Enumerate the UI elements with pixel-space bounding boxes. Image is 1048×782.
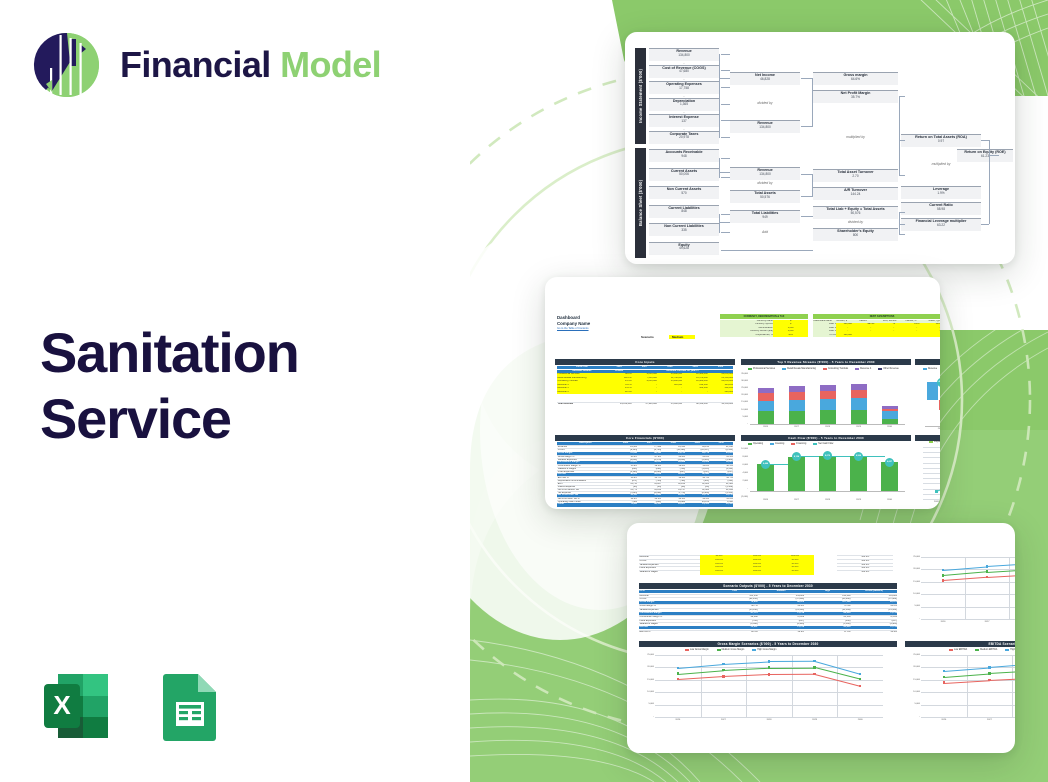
- node-value: 61.23: [957, 155, 1013, 158]
- conn-income-5: [721, 137, 730, 138]
- legend-item: Net Cash Flow: [813, 443, 833, 445]
- x-tick: 2026: [936, 428, 940, 430]
- legend-swatch: [717, 649, 721, 651]
- node-value: 0.97: [901, 140, 981, 143]
- legend-label: Medium Gross Margin: [722, 649, 745, 651]
- total-value: 68,132,000: [682, 402, 707, 406]
- conn-col2-spine2: [812, 174, 813, 196]
- conn-equity: [721, 250, 813, 251]
- conn-col4-2: [981, 224, 989, 225]
- stacked-bar-segment: [758, 401, 774, 412]
- y-tick: 25,000: [642, 654, 654, 656]
- conn-col2-5: [801, 216, 813, 217]
- ebitda-x-tick: 2027: [984, 719, 994, 721]
- legend-label: Professional Services: [753, 368, 775, 370]
- panel-header-ebitda-scenarios: EBITDA Scenarios ($'000) - 5 Years to De…: [905, 641, 1015, 647]
- node-value: 1.9%: [901, 192, 981, 195]
- y-tick: 2,000: [738, 480, 748, 482]
- panel-header-gross-margin-scenarios: Gross Margin Scenarios ($'000) - 5 Years…: [639, 641, 897, 647]
- legend-swatch: [975, 649, 979, 651]
- stacked-bar-segment: [882, 411, 898, 419]
- active-value: 100.0%: [837, 570, 893, 574]
- legend-swatch: [752, 649, 756, 651]
- gross-margin-x-tick: 2026: [673, 719, 683, 721]
- gross-margin-data-point: [768, 666, 770, 668]
- panel-header-profitability: Profitability ($'000) - 5 Years to Decem…: [915, 359, 940, 365]
- ebitda-data-point: [943, 676, 945, 678]
- node-value: 49,628: [649, 247, 719, 250]
- col3-shareholders-equity: Shareholder's Equity800: [813, 228, 898, 241]
- cell: 100,000: [836, 334, 859, 337]
- col2-net-income: Net Income46,828: [730, 72, 800, 85]
- scenario-overview-data-point: [986, 570, 988, 572]
- add-op: Add: [730, 230, 800, 234]
- gross-margin-line-segment: [769, 667, 815, 668]
- legend-item: Payback year: [929, 441, 940, 443]
- cell: 320,000: [708, 391, 733, 394]
- cell: 52.9%: [758, 630, 804, 634]
- conn-col4-1: [981, 140, 989, 141]
- dashboard-title: DashboardCompany Name: [557, 315, 637, 326]
- top-block-header-1: DEBT ASSUMPTIONS: [813, 314, 940, 319]
- conn-col4-out: [989, 155, 999, 156]
- y-tick: 10,000: [908, 691, 920, 693]
- legend-label: Revenue 4: [860, 368, 871, 370]
- conn-col3-1: [899, 96, 905, 97]
- brand-name: Financial Model: [120, 44, 381, 86]
- legend-label: Operating: [753, 443, 763, 445]
- legend-swatch: [1005, 649, 1009, 651]
- conn-col3-3: [899, 212, 905, 213]
- legend-swatch: [949, 649, 953, 651]
- total-value: 24,100,000: [606, 402, 631, 406]
- panel-header-scenario-outputs: Scenario Outputs ($'000) - 5 Years to De…: [639, 583, 897, 589]
- col4-leverage: Leverage1.9%: [901, 186, 981, 199]
- stacked-bar-segment: [882, 406, 898, 409]
- top-block-row: TOTAL100,000: [813, 334, 940, 337]
- legend-swatch: [791, 443, 795, 445]
- legend-item: Medium Gross Margin: [717, 649, 745, 651]
- cell: -: [632, 391, 657, 394]
- y-tick: -: [642, 716, 654, 718]
- y-tick: 15,000: [738, 401, 748, 403]
- legend-label: Consulting Tutorials: [828, 368, 848, 370]
- gross-margin-x-tick: 2028: [764, 719, 774, 721]
- gross-margin-data-point: [677, 678, 679, 680]
- col4-roa: Return on Total Assets (ROA)0.97: [901, 134, 981, 147]
- total-value: 37,940,000: [632, 402, 657, 406]
- legend-label: High EBITDA: [1010, 649, 1015, 651]
- x-tick: 2029: [855, 426, 863, 428]
- brand-logo: Financial Model: [30, 28, 381, 102]
- y-tick: 15,000: [908, 679, 920, 681]
- net-cashflow-bubble: 6,637: [885, 458, 894, 467]
- legend-label: Medium EBITDA: [980, 649, 997, 651]
- legend-label: Financing: [796, 443, 806, 445]
- y-tick: 20,000: [738, 394, 748, 396]
- scenario-active-col: 100.0%: [837, 570, 893, 574]
- node-value: 50,006: [649, 173, 719, 176]
- total-value: 91,538,000: [708, 402, 733, 406]
- top-block-row: Corporate tax, %30%: [720, 334, 808, 337]
- cell: 8,444: [613, 503, 637, 506]
- income-item-4: Interest Expense137: [649, 114, 719, 127]
- y-tick: 20,000: [908, 666, 920, 668]
- stacked-bar-segment: [789, 411, 805, 424]
- x-tick: 2026: [762, 426, 770, 428]
- conn-col3-out2: [899, 224, 905, 225]
- gross-margin-data-point: [859, 685, 861, 687]
- y-tick: 5,000: [908, 605, 920, 607]
- col3-total-liab-equity: Total Liab + Equity = Total Assets50,576: [813, 206, 898, 219]
- ebitda-line-segment: [989, 671, 1015, 674]
- net-cashflow-line: [863, 456, 885, 457]
- gross-margin-data-point: [677, 667, 679, 669]
- microsoft-excel-icon[interactable]: X: [36, 666, 116, 746]
- cell: 22.4%: [606, 391, 631, 394]
- scenario-overview-x-tick: 2027: [982, 621, 992, 623]
- gross-margin-data-point: [677, 672, 679, 674]
- payback-data-point: [935, 490, 938, 493]
- net-cashflow-bubble: 8,568: [854, 452, 863, 461]
- total-value: 55,300,000: [657, 402, 682, 406]
- ebitda-x-tick: 2026: [939, 719, 949, 721]
- cashflow-legend: OperatingInvestingFinancingNet Cash Flow: [748, 443, 836, 445]
- core-inputs-row: Revenue 622.4%---320,000: [557, 391, 733, 394]
- legend-swatch: [878, 368, 882, 370]
- panel-header-top-5-revenue-streams: Top 5 Revenue Streams ($'000) - 5 Years …: [741, 359, 911, 365]
- cell: 52.9%: [851, 630, 897, 634]
- legend-label: Other Revenue: [883, 368, 899, 370]
- core-financials-row: Close8,44449,13440,90144,50046,590: [557, 503, 733, 506]
- income-statement-band: Income Statement ($'000): [635, 48, 646, 144]
- y-tick: -: [908, 618, 920, 620]
- y-tick: 4,000: [738, 472, 748, 474]
- stacked-bar-segment: [851, 390, 867, 398]
- node-value: 50,576: [730, 196, 800, 199]
- stacked-bar-segment: [851, 384, 867, 390]
- cell: TOTAL: [813, 334, 836, 337]
- income-item-5: Corporate Taxes20,978: [649, 131, 719, 144]
- node-value: 17,758: [649, 87, 719, 90]
- legend-swatch: [748, 368, 752, 370]
- google-sheets-icon[interactable]: [148, 666, 228, 746]
- legend-swatch: [813, 443, 817, 445]
- gross-margin-data-point: [859, 678, 861, 680]
- y-tick: 20,000: [642, 666, 654, 668]
- y-tick: 30,000: [738, 380, 748, 382]
- y-tick: -: [908, 716, 920, 718]
- conn-bs-1: [721, 158, 730, 159]
- scenario-overview-data-point: [986, 565, 988, 567]
- brand-name-part1: Financial: [120, 44, 271, 85]
- conn-bs-out2: [719, 222, 730, 223]
- gross-margin-data-point: [813, 660, 815, 662]
- y-tick: 5,000: [642, 703, 654, 705]
- y-tick: 25,000: [908, 556, 920, 558]
- node-value: 800: [813, 234, 898, 237]
- cell: [905, 334, 928, 337]
- legend-label: Payback year: [934, 441, 940, 443]
- y-tick: 10,000: [642, 691, 654, 693]
- cell: 49,134: [637, 503, 661, 506]
- conn-bs-spine2: [719, 214, 720, 233]
- cell: 57.0%: [804, 630, 850, 634]
- legend-swatch: [923, 368, 927, 370]
- col2-revenue-2: Revenue134,800: [730, 167, 800, 180]
- stacked-bar-segment: [851, 410, 867, 424]
- legend-label: Low EBITDA: [954, 649, 967, 651]
- stacked-bar-segment: [851, 398, 867, 410]
- conn-col4-spine: [989, 140, 990, 224]
- node-value: 2.70: [813, 175, 898, 178]
- dupont-analysis-screenshot[interactable]: Income Statement ($'000)Balance Sheet ($…: [625, 32, 1015, 264]
- conn-col2-4: [801, 196, 813, 197]
- cell: Close: [557, 503, 613, 506]
- ebitda-data-point: [988, 672, 990, 674]
- y-tick: -: [738, 488, 748, 490]
- dashboard-title-line2: Company Name: [557, 321, 637, 327]
- svg-text:X: X: [53, 690, 71, 720]
- legend-label: Revenue: [928, 368, 937, 370]
- gross-margin-data-point: [813, 666, 815, 668]
- dashboard-screenshot[interactable]: DashboardCompany NameGo to the Table of …: [545, 277, 940, 509]
- panel-header-core-inputs: Core Inputs: [555, 359, 735, 365]
- scenario-overview-data-point: [942, 574, 944, 576]
- stacked-bar-segment: [820, 399, 836, 411]
- net-cashflow-bubble: 8,134: [792, 452, 801, 461]
- conn-col2-spine: [812, 78, 813, 126]
- input-value: 100.0%: [738, 570, 776, 574]
- compatible-apps: X: [36, 666, 228, 746]
- node-value: 948: [649, 155, 719, 158]
- scenario-overview-data-point: [986, 576, 988, 578]
- balance-item-4: Non Current Liabilities335: [649, 223, 719, 236]
- legend-item: High Gross Margin: [752, 649, 776, 651]
- y-tick: 10,000: [738, 448, 748, 450]
- conn-bs-spine: [719, 158, 720, 178]
- scenario-overview-line-segment: [987, 564, 1015, 567]
- x-tick: 2027: [793, 426, 801, 428]
- conn-bs-4: [721, 232, 730, 233]
- cell: -: [657, 391, 682, 394]
- gross-margin-data-point: [722, 669, 724, 671]
- x-tick: 2030: [886, 499, 894, 501]
- cell: [882, 334, 905, 337]
- x-tick: 2028: [824, 499, 832, 501]
- node-value: 134,800: [730, 126, 800, 129]
- y-tick: 25,000: [738, 387, 748, 389]
- ebitda-data-point: [988, 679, 990, 681]
- balance-item-1: Current Assets50,006: [649, 168, 719, 181]
- conn-col3-2: [899, 175, 905, 176]
- node-value: 137: [649, 120, 719, 123]
- cell: 30%: [773, 334, 808, 337]
- cashflow-operating-bar: [819, 456, 836, 491]
- y-tick: 6,000: [738, 464, 748, 466]
- col2-total-liabilities: Total Liabilities949: [730, 210, 800, 223]
- scenario-overview-line-segment: [987, 575, 1015, 578]
- col4-financial-leverage: Financial Leverage multiplier63.22: [901, 218, 981, 231]
- legend-label: Retail Resale Manufacturing: [787, 368, 816, 370]
- cell: 46,590: [709, 503, 733, 506]
- conn-income-spine: [719, 54, 720, 138]
- legend-item: Revenue 4: [855, 368, 871, 370]
- legend-swatch: [782, 368, 786, 370]
- gross-margin-data-point: [859, 673, 861, 675]
- core-inputs-total-row: Total Revenue24,100,00037,940,00055,300,…: [557, 402, 733, 406]
- legend-item: High EBITDA: [1005, 649, 1015, 651]
- conn-bs-out: [719, 172, 730, 173]
- legend-label: Investing: [775, 443, 784, 445]
- income-item-0: Revenue134,800: [649, 48, 719, 61]
- legend-item: Low EBITDA: [949, 649, 967, 651]
- cashflow-operating-bar: [788, 457, 805, 491]
- conn-bs-3: [721, 214, 730, 215]
- col4-current-ratio: Current Ratio58.98: [901, 202, 981, 215]
- income-item-3: Depreciation1,365: [649, 98, 719, 111]
- y-tick: 5,000: [738, 416, 748, 418]
- input-label: Salaries & Wages: [639, 570, 700, 574]
- balance-item-5: Equity49,628: [649, 242, 719, 255]
- profitability-revenue-bar: [927, 382, 938, 400]
- cell: 40.1%: [711, 630, 757, 634]
- conn-col3-spine2: [899, 212, 900, 234]
- stacked-bar-segment: [758, 411, 774, 424]
- profitability-legend: RevenueEBITDAEBITDA %: [923, 368, 940, 370]
- left-content-panel: Financial Model Sanitation Service X: [0, 0, 470, 782]
- legend-item: Low Gross Margin: [685, 649, 709, 651]
- node-value: 335: [649, 229, 719, 232]
- legend-item: Investing: [770, 443, 784, 445]
- page-title-line1: Sanitation: [40, 320, 299, 386]
- scenario-label: Scenario: [641, 335, 665, 339]
- divided-by-3: divided by: [813, 220, 898, 224]
- multiplied-by-1: multiplied by: [813, 135, 898, 139]
- col3-ar-turnover: A/R Turnover144.24: [813, 187, 898, 200]
- top-block-header-0: CURRENCY, DENOMINATION & TAX: [720, 314, 808, 319]
- conn-col3-spine: [899, 96, 900, 175]
- page-title-line2: Service: [40, 386, 299, 452]
- page-title: Sanitation Service: [40, 320, 299, 451]
- y-tick: 15,000: [908, 581, 920, 583]
- x-tick: 2030: [886, 426, 894, 428]
- gross-margin-data-point: [722, 663, 724, 665]
- ebitda-legend: Low EBITDAMedium EBITDAHigh EBITDA: [949, 649, 1015, 651]
- balance-item-3: Current Liabilities848: [649, 205, 719, 218]
- multiplied-by-2: multiplied by: [901, 162, 981, 166]
- col2-total-assets: Total Assets50,576: [730, 190, 800, 203]
- scenario-selector[interactable]: Medium: [669, 335, 695, 339]
- stacked-bar-segment: [789, 400, 805, 411]
- legend-swatch: [929, 441, 933, 443]
- gross-margin-x-tick: 2030: [855, 719, 865, 721]
- gross-margin-data-point: [768, 673, 770, 675]
- conn-col3-4: [899, 234, 905, 235]
- gross-margin-x-tick: 2029: [810, 719, 820, 721]
- gross-margin-data-point: [813, 673, 815, 675]
- cell: Revenue 6: [557, 391, 606, 394]
- revenue-streams-legend: Professional ServicesRetail Resale Manuf…: [748, 368, 902, 370]
- scenario-analysis-screenshot[interactable]: Revenue80.0%100.0%120.0%100.0%COGS115.0%…: [627, 523, 1015, 753]
- legend-item: Medium EBITDA: [975, 649, 997, 651]
- conn-income-3: [721, 104, 730, 105]
- conn-col3-out: [899, 140, 905, 141]
- node-value: 50,576: [813, 212, 898, 215]
- y-tick: 25,000: [908, 654, 920, 656]
- conn-income-2: [721, 87, 730, 88]
- cell: 40,901: [661, 503, 685, 506]
- payback-legend: Payback yearCumulative Cash Generated (G…: [929, 441, 940, 443]
- divided-by-1: divided by: [730, 101, 800, 105]
- cell: Corporate tax, %: [720, 334, 773, 337]
- legend-item: Consulting Tutorials: [823, 368, 848, 370]
- legend-item: Retail Resale Manufacturing: [782, 368, 816, 370]
- balance-sheet-band: Balance Sheet ($'000): [635, 148, 646, 258]
- legend-label: Net Cash Flow: [818, 443, 833, 445]
- legend-swatch: [823, 368, 827, 370]
- node-value: 35.7%: [813, 96, 898, 99]
- table-of-contents-link[interactable]: Go to the Table of Contents: [557, 327, 627, 330]
- scenario-table-row: EBITDA %40.1%52.9%57.0%52.9%: [639, 630, 897, 634]
- col3-gross-margin: Gross margin64.6%: [813, 72, 898, 85]
- legend-item: Financing: [791, 443, 806, 445]
- stacked-bar-segment: [789, 392, 805, 400]
- panel-header-cash-flow: Cash Flow ($'000) - 5 Years to December …: [741, 435, 911, 441]
- balance-item-0: Accounts Receivable948: [649, 149, 719, 162]
- node-value: 134,800: [649, 54, 719, 57]
- ebitda-data-point: [943, 681, 945, 683]
- y-tick: 8,000: [738, 456, 748, 458]
- legend-item: Other Revenue: [878, 368, 899, 370]
- node-value: 134,800: [730, 173, 800, 176]
- gross-margin-legend: Low Gross MarginMedium Gross MarginHigh …: [685, 649, 780, 651]
- stacked-bar-segment: [820, 410, 836, 424]
- x-tick: 2029: [855, 499, 863, 501]
- y-tick: 10,000: [738, 409, 748, 411]
- legend-swatch: [685, 649, 689, 651]
- conn-income-0: [721, 54, 730, 55]
- node-value: 64.6%: [813, 78, 898, 81]
- legend-swatch: [770, 443, 774, 445]
- x-tick: 2026: [762, 499, 770, 501]
- conn-income-out: [719, 78, 730, 79]
- x-tick: 2027: [793, 499, 801, 501]
- node-value: 47,680: [649, 70, 719, 73]
- cell: [928, 334, 940, 337]
- income-item-1: Cost of Revenue (COGS)47,680: [649, 65, 719, 78]
- input-value: 85.0%: [776, 570, 814, 574]
- y-tick: 20,000: [908, 568, 920, 570]
- node-value: 58.98: [901, 208, 981, 211]
- scenario-overview-data-point: [942, 579, 944, 581]
- conn-income-4: [721, 120, 730, 121]
- gross-margin-data-point: [722, 675, 724, 677]
- total-label: Total Revenue: [557, 402, 606, 406]
- stacked-bar-segment: [758, 393, 774, 400]
- net-cashflow-bubble: 6,444: [761, 460, 770, 469]
- brand-name-part2: Model: [280, 44, 381, 85]
- stacked-bar-segment: [882, 409, 898, 412]
- node-value: 144.24: [813, 193, 898, 196]
- legend-swatch: [748, 443, 752, 445]
- cell: 44,500: [685, 503, 709, 506]
- node-value: 63.22: [901, 224, 981, 227]
- panel-header-core-financials: Core Financials ($'000): [555, 435, 735, 441]
- x-tick: 2026: [932, 501, 940, 503]
- income-item-2: Operating Expenses17,758: [649, 81, 719, 94]
- y-tick: 35,000: [738, 373, 748, 375]
